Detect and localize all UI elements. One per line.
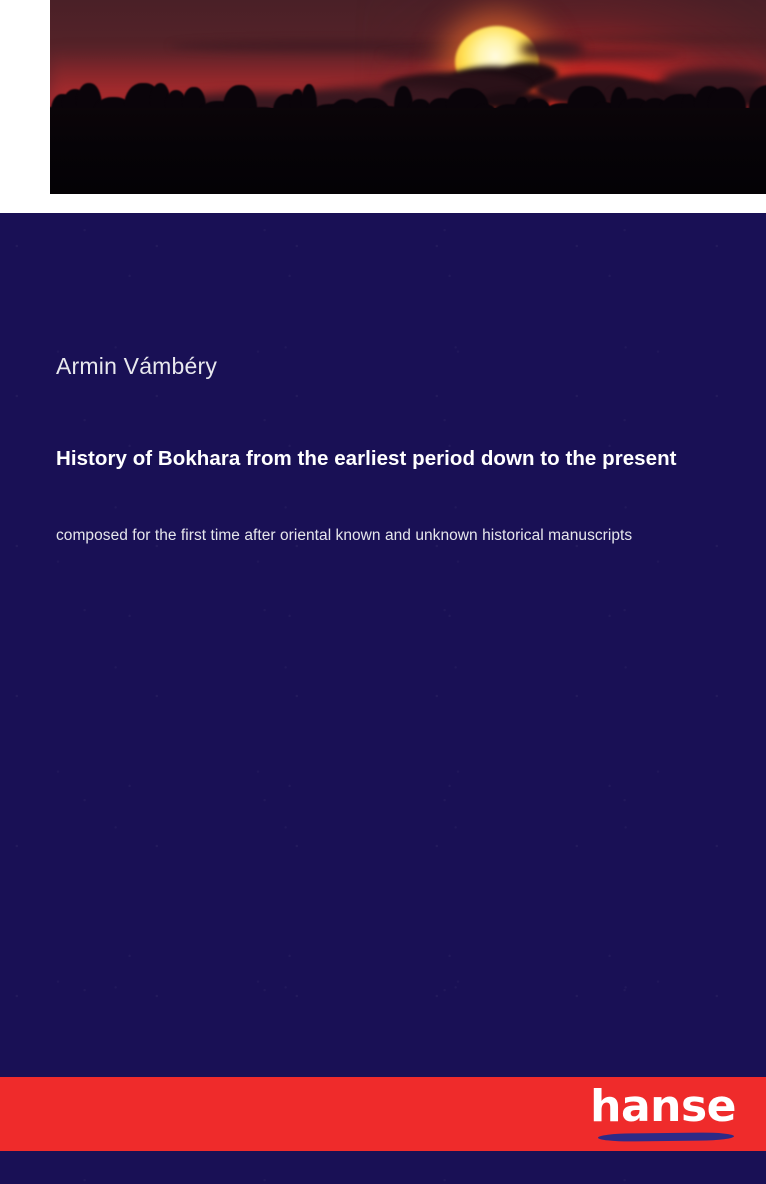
publisher-logo: hanse [586, 1081, 736, 1147]
cloud [520, 40, 584, 58]
publisher-logo-underline [598, 1132, 734, 1141]
cover-photo [50, 0, 766, 194]
book-cover: Armin Vámbéry History of Bokhara from th… [0, 0, 766, 1184]
book-title: History of Bokhara from the earliest per… [56, 436, 696, 481]
cloud-wisp [570, 34, 766, 43]
publisher-logo-text: hanse [590, 1081, 736, 1133]
author-name: Armin Vámbéry [56, 351, 217, 381]
foreground-silhouette [50, 108, 766, 194]
book-subtitle: composed for the first time after orient… [56, 516, 706, 556]
